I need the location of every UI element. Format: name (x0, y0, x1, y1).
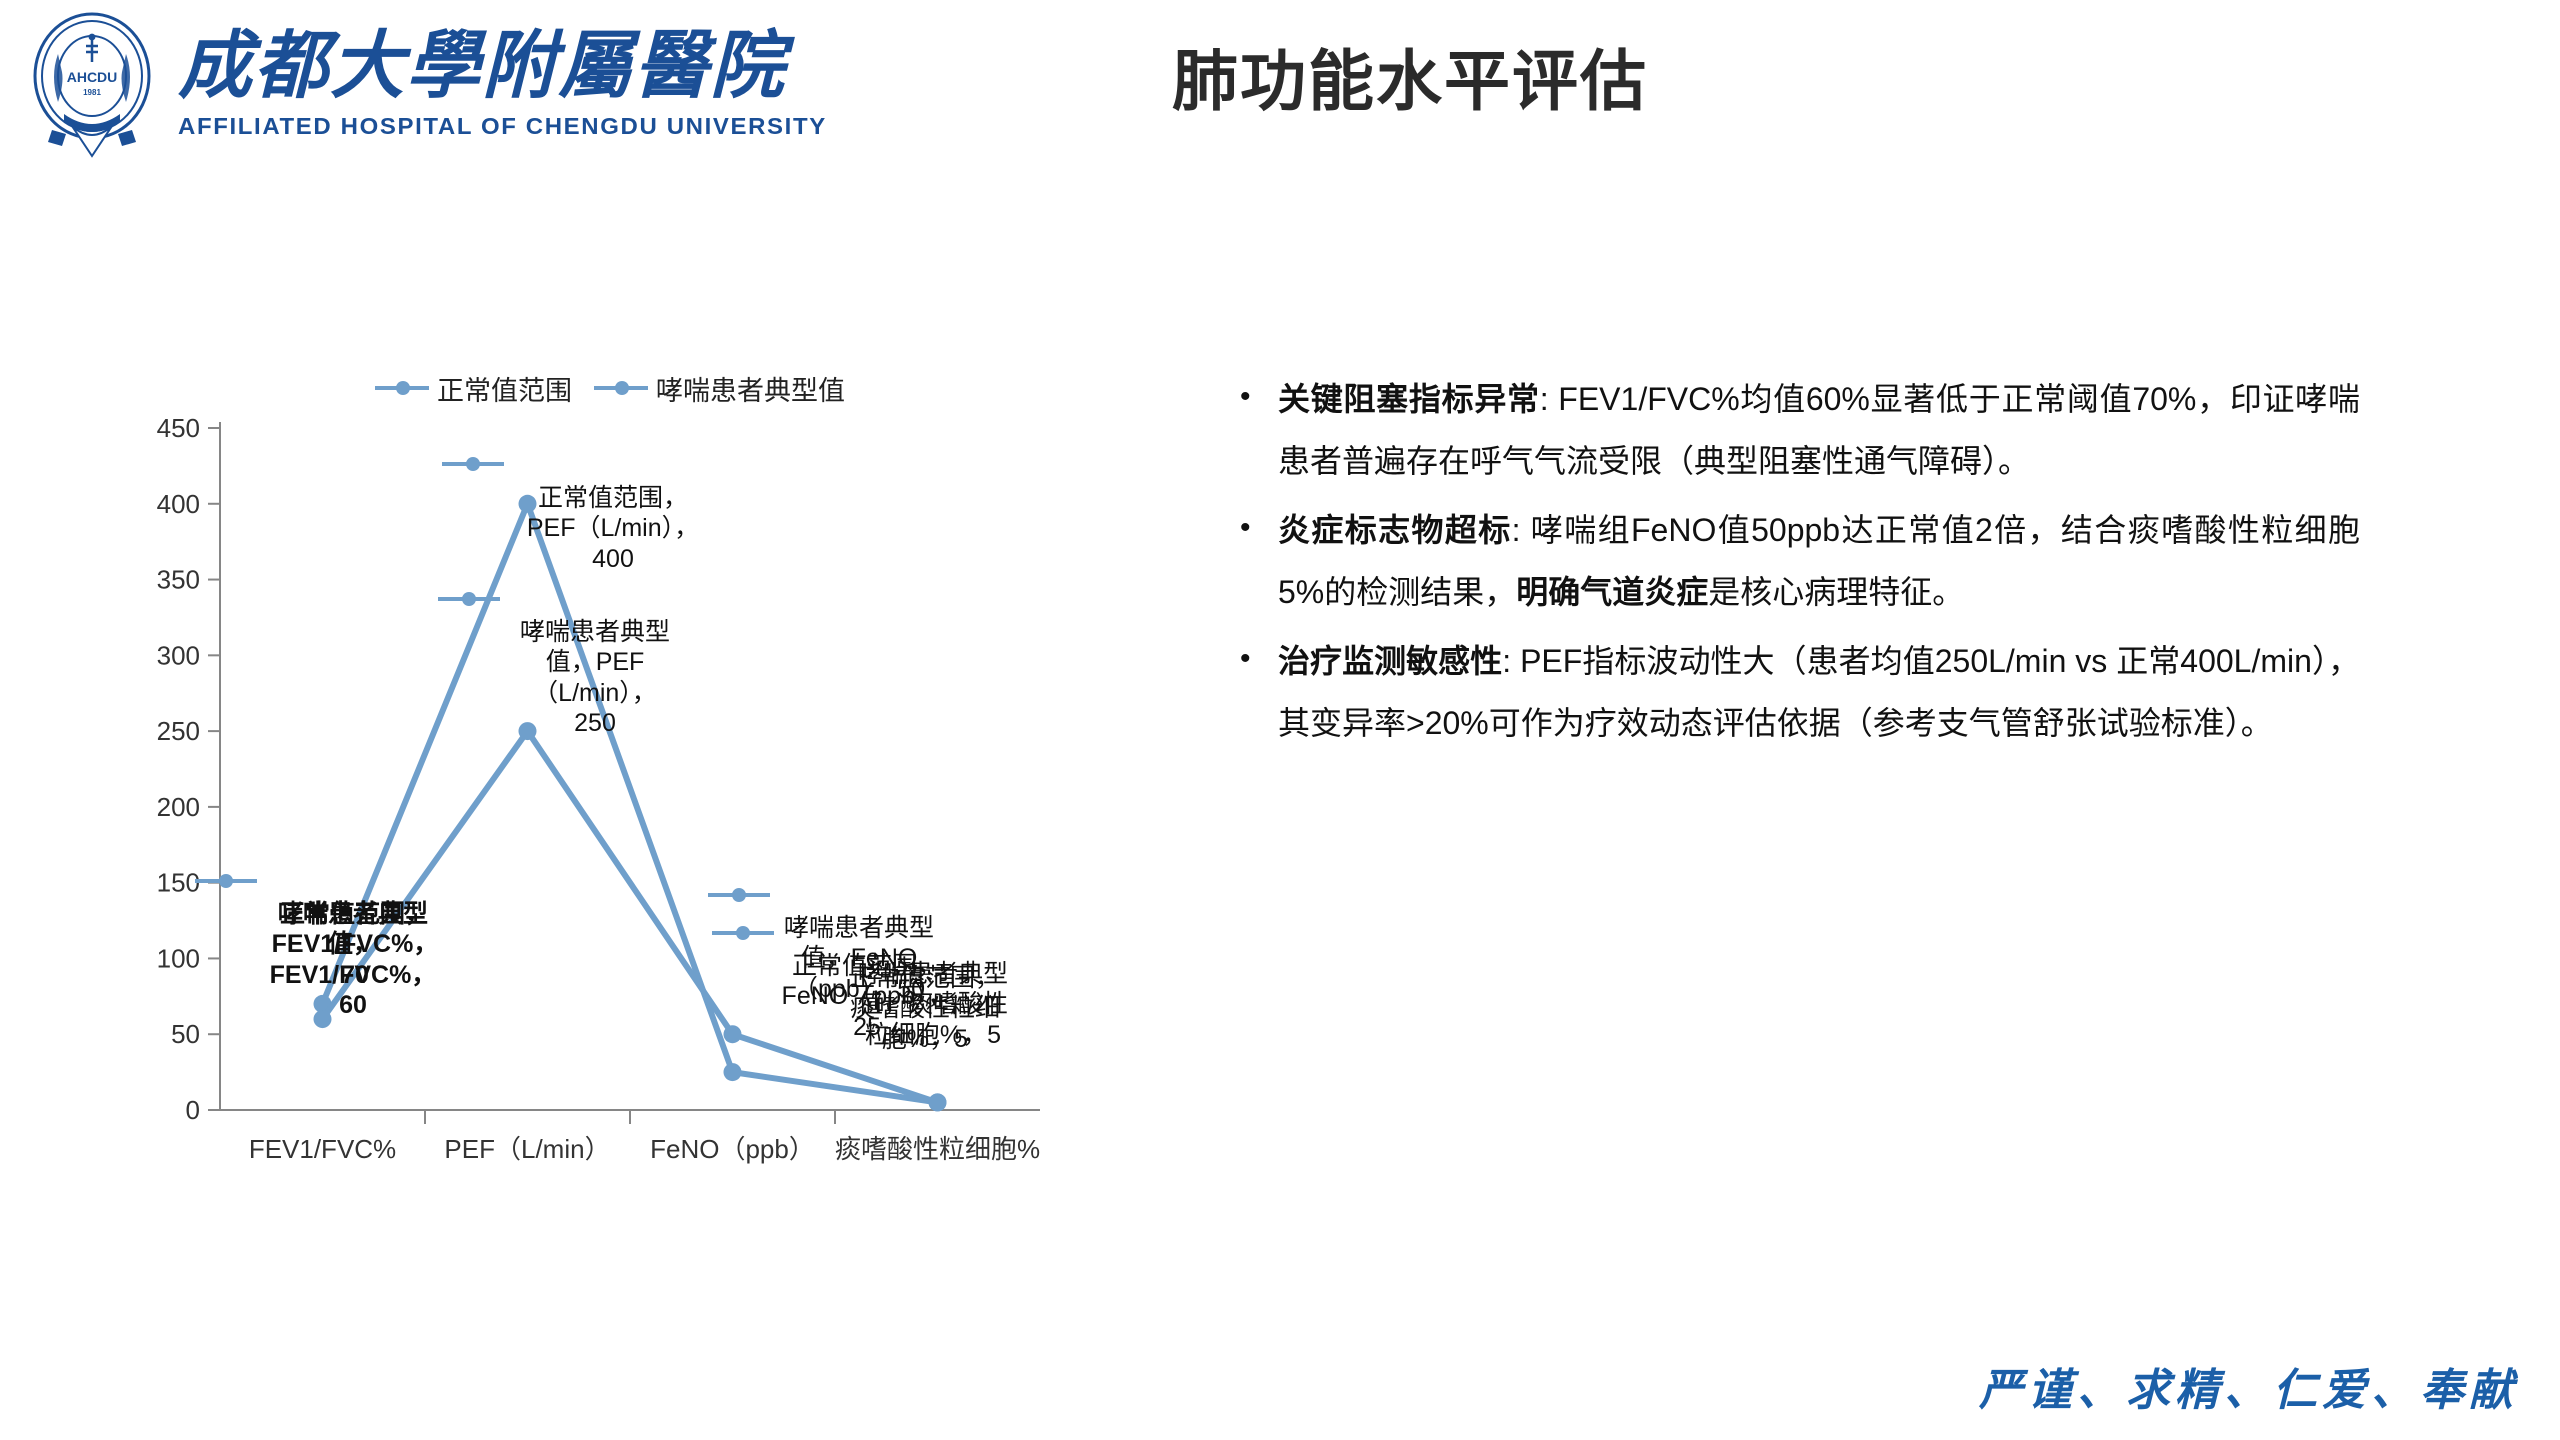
svg-text:450: 450 (157, 413, 200, 443)
svg-text:300: 300 (157, 640, 200, 670)
svg-text:400: 400 (157, 489, 200, 519)
legend-item-normal[interactable]: 正常值范围 (375, 369, 572, 408)
data-label-leader-icon (438, 590, 500, 608)
svg-text:350: 350 (157, 565, 200, 595)
chart-plot-area: 050100150200250300350400450FEV1/FVC%PEF（… (120, 410, 1180, 1240)
svg-text:50: 50 (171, 1019, 200, 1049)
bullet-lead: 关键阻塞指标异常 (1278, 381, 1540, 417)
legend-item-asthma[interactable]: 哮喘患者典型值 (594, 369, 845, 408)
svg-text:150: 150 (157, 868, 200, 898)
bullet-text: 炎症标志物超标: 哮喘组FeNO值50ppb达正常值2倍，结合痰嗜酸性粒细胞5%… (1278, 499, 2360, 624)
svg-text:FeNO（ppb）: FeNO（ppb） (650, 1134, 815, 1164)
bullet-item-inflammation: • 炎症标志物超标: 哮喘组FeNO值50ppb达正常值2倍，结合痰嗜酸性粒细胞… (1240, 499, 2360, 624)
legend-marker-icon (375, 379, 429, 397)
bullet-lead: 炎症标志物超标 (1278, 512, 1512, 548)
svg-text:AHCDU: AHCDU (67, 69, 118, 85)
legend-label-asthma: 哮喘患者典型值 (656, 369, 845, 408)
analysis-bullet-list: • 关键阻塞指标异常: FEV1/FVC%均值60%显著低于正常阈值70%，印证… (1240, 368, 2360, 760)
bullet-text: 治疗监测敏感性: PEF指标波动性大（患者均值250L/min vs 正常400… (1278, 630, 2360, 755)
data-label-asthma-fev1: 哮喘患者典型 值， FEV1/FVC%， 60 (253, 868, 453, 1021)
hospital-name-en: AFFILIATED HOSPITAL OF CHENGDU UNIVERSIT… (178, 113, 827, 140)
data-label-leader-icon (712, 924, 774, 942)
svg-text:FEV1/FVC%: FEV1/FVC% (249, 1134, 396, 1164)
hospital-name-block: 成都大學附屬醫院 AFFILIATED HOSPITAL OF CHENGDU … (178, 30, 814, 140)
data-label-normal-pef: 正常值范围， PEF（L/min）， 400 (498, 452, 728, 574)
svg-text:PEF（L/min）: PEF（L/min） (444, 1134, 610, 1164)
legend-label-normal: 正常值范围 (437, 369, 572, 408)
svg-text:100: 100 (157, 943, 200, 973)
footer-slogan: 严谨、求精、仁爱、奉献 (1979, 1354, 2518, 1418)
bullet-marker-icon: • (1240, 499, 1278, 624)
svg-text:250: 250 (157, 716, 200, 746)
slide-header: AHCDU 1981 成都大學附屬醫院 AFFILIATED HOSPITAL … (0, 0, 2560, 180)
bullet-emphasis: 明确气道炎症 (1516, 574, 1708, 610)
bullet-rest-b: 是核心病理特征。 (1708, 574, 1964, 610)
bullet-sep: : (1502, 643, 1520, 679)
bullet-sep: : (1512, 512, 1531, 548)
bullet-marker-icon: • (1240, 630, 1278, 755)
svg-text:1981: 1981 (83, 88, 101, 97)
bullet-text: 关键阻塞指标异常: FEV1/FVC%均值60%显著低于正常阈值70%，印证哮喘… (1278, 368, 2360, 493)
bullet-sep: : (1540, 381, 1559, 417)
legend-marker-icon (594, 379, 648, 397)
bullet-lead: 治疗监测敏感性 (1278, 643, 1502, 679)
hospital-name-cn: 成都大學附屬醫院 (178, 30, 814, 104)
svg-text:0: 0 (186, 1095, 200, 1125)
lung-function-chart: 正常值范围 哮喘患者典型值 05010015020025030035040045… (120, 360, 1180, 1240)
hospital-seal-icon: AHCDU 1981 (28, 10, 156, 160)
svg-text:200: 200 (157, 792, 200, 822)
hospital-logo: AHCDU 1981 成都大學附屬醫院 AFFILIATED HOSPITAL … (28, 10, 814, 160)
data-label-normal-eos: 正常值范围， 痰嗜酸性粒细 胞%，5 (830, 932, 1020, 1054)
data-label-leader-icon (708, 886, 770, 904)
bullet-item-obstruction: • 关键阻塞指标异常: FEV1/FVC%均值60%显著低于正常阈值70%，印证… (1240, 368, 2360, 493)
data-label-asthma-pef: 哮喘患者典型 值，PEF （L/min）， 250 (500, 586, 690, 739)
data-label-leader-icon (442, 455, 504, 473)
data-label-leader-icon (195, 872, 257, 890)
chart-legend: 正常值范围 哮喘患者典型值 (350, 368, 870, 408)
bullet-marker-icon: • (1240, 368, 1278, 493)
bullet-item-monitoring: • 治疗监测敏感性: PEF指标波动性大（患者均值250L/min vs 正常4… (1240, 630, 2360, 755)
page-title: 肺功能水平评估 (1150, 28, 1670, 124)
svg-text:痰嗜酸性粒细胞%: 痰嗜酸性粒细胞% (835, 1134, 1040, 1164)
